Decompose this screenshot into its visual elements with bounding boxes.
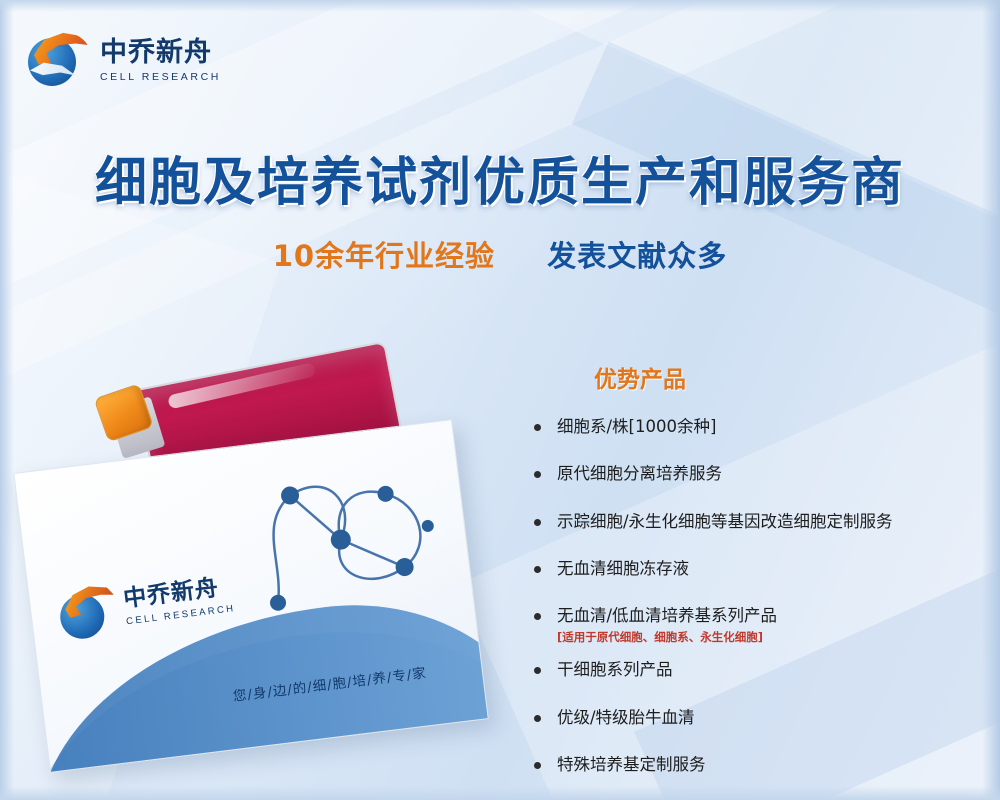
brand-name-en: CELL RESEARCH (100, 72, 221, 83)
list-item: 特殊培养基定制服务 (520, 754, 990, 776)
products-list: 细胞系/株[1000余种] 原代细胞分离培养服务 示踪细胞/永生化细胞等基因改造… (520, 416, 990, 776)
products-title: 优势产品 (540, 360, 740, 394)
bullet-icon (534, 519, 541, 526)
brand-logo: 中乔新舟 CELL RESEARCH (28, 30, 221, 92)
list-item: 优级/特级胎牛血清 (520, 707, 990, 729)
molecule-network-icon (230, 432, 460, 636)
brand-name-cn: 中乔新舟 (100, 39, 221, 66)
cell-swoosh-logo-icon (28, 30, 90, 92)
product-box-icon: 中乔新舟 CELL RESEARCH 您/身/边/的/细/胞/培/养/专/家 (13, 419, 489, 773)
list-item-label: 无血清细胞冻存液 (557, 558, 689, 580)
list-item-label: 示踪细胞/永生化细胞等基因改造细胞定制服务 (557, 511, 893, 533)
list-item-label: 原代细胞分离培养服务 (557, 463, 722, 485)
list-item: 示踪细胞/永生化细胞等基因改造细胞定制服务 (520, 511, 990, 533)
headline-sub-left: 10余年行业经验 (273, 239, 495, 273)
headline-sub: 10余年行业经验 发表文献众多 (0, 233, 1000, 275)
bullet-icon (534, 715, 541, 722)
list-item-note: [适用于原代细胞、细胞系、永生化细胞] (557, 629, 777, 645)
bullet-icon (534, 667, 541, 674)
bullet-icon (534, 613, 541, 620)
decor-edge-left (0, 0, 14, 800)
headline-block: 细胞及培养试剂优质生产和服务商 10余年行业经验 发表文献众多 (0, 140, 1000, 275)
list-item: 无血清细胞冻存液 (520, 558, 990, 580)
list-item-label: 干细胞系列产品 (557, 659, 673, 681)
bullet-icon (534, 566, 541, 573)
list-item-label: 细胞系/株[1000余种] (557, 416, 716, 438)
list-item: 原代细胞分离培养服务 (520, 463, 990, 485)
list-item: 干细胞系列产品 (520, 659, 990, 681)
box-brand-logo: 中乔新舟 CELL RESEARCH (57, 566, 238, 643)
list-item-label: 优级/特级胎牛血清 (557, 707, 695, 729)
cell-swoosh-logo-icon (57, 581, 119, 643)
list-item: 无血清/低血清培养基系列产品 [适用于原代细胞、细胞系、永生化细胞] (520, 605, 990, 645)
products-block: 优势产品 细胞系/株[1000余种] 原代细胞分离培养服务 示踪细胞/永生化细胞… (520, 360, 990, 800)
headline-sub-right: 发表文献众多 (547, 239, 727, 273)
list-item-label: 无血清/低血清培养基系列产品 (557, 605, 777, 627)
poster-canvas: 中乔新舟 CELL RESEARCH 细胞及培养试剂优质生产和服务商 10余年行… (0, 0, 1000, 800)
list-item-label: 特殊培养基定制服务 (557, 754, 706, 776)
bullet-icon (534, 471, 541, 478)
list-item: 细胞系/株[1000余种] (520, 416, 990, 438)
headline-main: 细胞及培养试剂优质生产和服务商 (0, 140, 1000, 215)
bullet-icon (534, 424, 541, 431)
bullet-icon (534, 762, 541, 769)
decor-edge-top (0, 0, 1000, 12)
product-photo: 中乔新舟 CELL RESEARCH 您/身/边/的/细/胞/培/养/专/家 (20, 350, 500, 780)
